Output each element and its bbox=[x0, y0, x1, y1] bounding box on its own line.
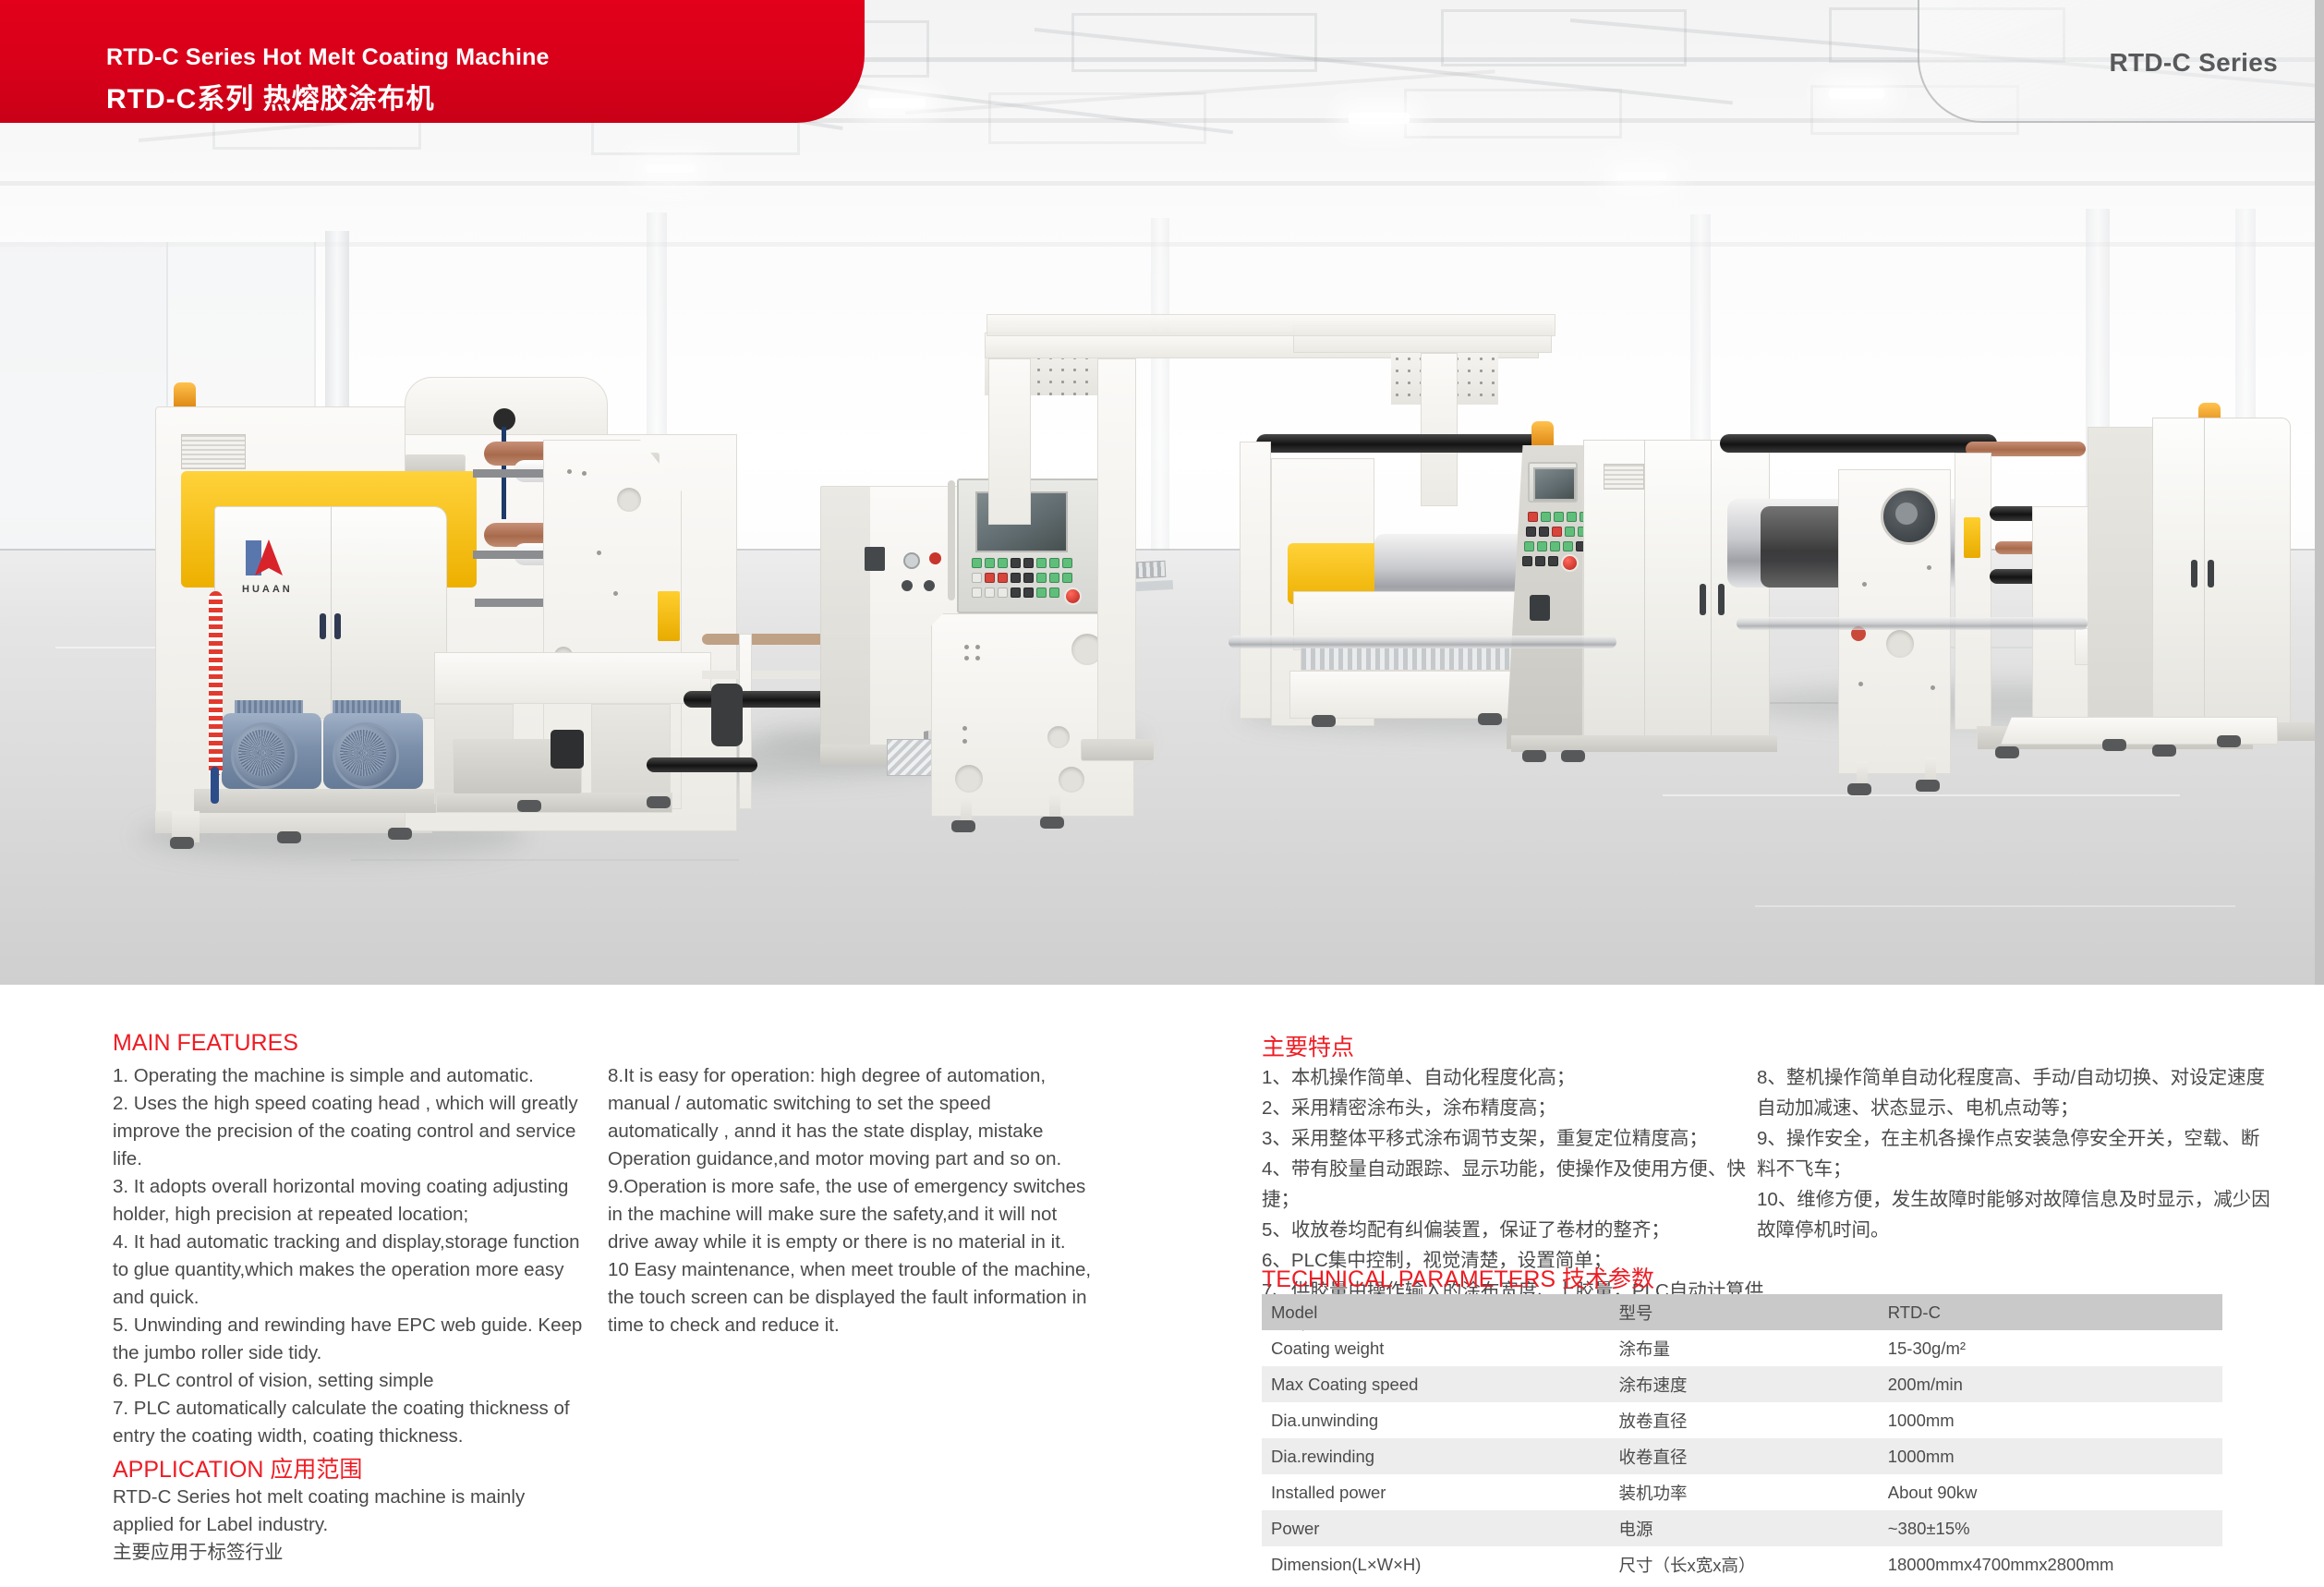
table-cell-label-cn: 涂布速度 bbox=[1610, 1366, 1879, 1402]
feature-item: 7. PLC automatically calculate the coati… bbox=[113, 1395, 593, 1450]
table-header-row: Model 型号 RTD-C bbox=[1262, 1294, 2222, 1330]
table-header-cell: Model bbox=[1262, 1294, 1610, 1330]
feature-item-cn: 5、收放卷均配有纠偏装置，保证了卷材的整齐； bbox=[1262, 1215, 1779, 1245]
table-header-cell: RTD-C bbox=[1879, 1294, 2222, 1330]
table-cell-value: ~380±15% bbox=[1879, 1510, 2222, 1546]
hmi-touch-screen-cabinet[interactable] bbox=[1533, 467, 1576, 501]
table-cell-value: 200m/min bbox=[1879, 1366, 2222, 1402]
product-photo: HUAAN bbox=[0, 0, 2315, 985]
feature-item-cn: 3、采用整体平移式涂布调节支架，重复定位精度高； bbox=[1262, 1123, 1779, 1154]
table-cell-label-en: Dia.unwinding bbox=[1262, 1402, 1610, 1438]
table-cell-value: 15-30g/m² bbox=[1879, 1330, 2222, 1366]
table-cell-label-cn: 装机功率 bbox=[1610, 1474, 1879, 1510]
table-cell-label-cn: 涂布量 bbox=[1610, 1330, 1879, 1366]
feature-item: 10 Easy maintenance, when meet trouble o… bbox=[608, 1256, 1097, 1339]
feature-item: 2. Uses the high speed coating head , wh… bbox=[113, 1090, 593, 1173]
coiled-air-hose bbox=[209, 591, 223, 776]
hmi-button-row-3[interactable] bbox=[972, 588, 1059, 598]
feature-item-cn: 2、采用精密涂布头，涂布精度高； bbox=[1262, 1093, 1779, 1123]
table-cell-label-cn: 收卷直径 bbox=[1610, 1438, 1879, 1474]
feature-item-cn: 10、维修方便，发生故障时能够对故障信息及时显示，减少因故障停机时间。 bbox=[1757, 1184, 2274, 1245]
technical-parameters-heading: TECHNICAL PARAMETERS 技术参数 bbox=[1262, 1261, 1654, 1294]
table-row: Coating weight 涂布量 15-30g/m² bbox=[1262, 1330, 2222, 1366]
table-cell-label-en: Coating weight bbox=[1262, 1330, 1610, 1366]
table-row: Max Coating speed 涂布速度 200m/min bbox=[1262, 1366, 2222, 1402]
cabinet-button-row-2[interactable] bbox=[1526, 527, 1588, 537]
table-row: Dia.unwinding 放卷直径 1000mm bbox=[1262, 1402, 2222, 1438]
table-cell-value: 1000mm bbox=[1879, 1402, 2222, 1438]
main-features-heading: MAIN FEATURES bbox=[113, 1030, 298, 1057]
main-features-cn-list-right: 8、整机操作简单自动化程度高、手动/自动切换、对设定速度自动加减速、状态显示、电… bbox=[1757, 1062, 2274, 1245]
feature-item: 3. It adopts overall horizontal moving c… bbox=[113, 1173, 593, 1229]
table-cell-label-en: Dimension(L×W×H) bbox=[1262, 1546, 1610, 1582]
banner-title-cn: RTD-C系列 热熔胶涂布机 bbox=[106, 76, 435, 116]
table-cell-label-cn: 放卷直径 bbox=[1610, 1402, 1879, 1438]
feature-item: 1. Operating the machine is simple and a… bbox=[113, 1062, 593, 1090]
cabinet-button-row-4[interactable] bbox=[1522, 556, 1558, 566]
control-box-yellow-small bbox=[658, 591, 680, 641]
table-cell-value: About 90kw bbox=[1879, 1474, 2222, 1510]
table-cell-label-en: Dia.rewinding bbox=[1262, 1438, 1610, 1474]
emergency-stop-button-center[interactable] bbox=[1064, 588, 1082, 605]
feature-item-cn: 9、操作安全，在主机各操作点安装急停安全开关，空载、断料不飞车； bbox=[1757, 1123, 2274, 1184]
feature-item: 6. PLC control of vision, setting simple bbox=[113, 1367, 593, 1395]
table-cell-label-cn: 电源 bbox=[1610, 1510, 1879, 1546]
feature-item: 5. Unwinding and rewinding have EPC web … bbox=[113, 1312, 593, 1367]
feature-item-cn: 8、整机操作简单自动化程度高、手动/自动切换、对设定速度自动加减速、状态显示、电… bbox=[1757, 1062, 2274, 1123]
hmi-button-row-2[interactable] bbox=[972, 573, 1072, 583]
feature-item: 4. It had automatic tracking and display… bbox=[113, 1229, 593, 1312]
hmi-button-row-1[interactable] bbox=[972, 558, 1072, 568]
main-features-cn-heading: 主要特点 bbox=[1262, 1029, 1354, 1062]
table-cell-value: 18000mmx4700mmx2800mm bbox=[1879, 1546, 2222, 1582]
application-text-cn: 主要应用于标签行业 bbox=[113, 1539, 575, 1567]
technical-parameters-table: Model 型号 RTD-C Coating weight 涂布量 15-30g… bbox=[1262, 1294, 2222, 1582]
page-right-gutter-lower bbox=[2315, 985, 2324, 1587]
cabinet-button-row-1[interactable] bbox=[1528, 512, 1590, 522]
page-sheet: HUAAN bbox=[0, 0, 2315, 1587]
electrical-cabinet-far-right bbox=[2152, 418, 2291, 735]
feature-item: 8.It is easy for operation: high degree … bbox=[608, 1062, 1097, 1173]
table-row: Installed power 装机功率 About 90kw bbox=[1262, 1474, 2222, 1510]
table-row: Power 电源 ~380±15% bbox=[1262, 1510, 2222, 1546]
table-cell-label-en: Installed power bbox=[1262, 1474, 1610, 1510]
series-tab-label: RTD-C Series bbox=[2109, 48, 2278, 78]
huaan-logo-text: HUAAN bbox=[242, 584, 293, 595]
huaan-logo bbox=[244, 539, 292, 580]
application-text-en: RTD-C Series hot melt coating machine is… bbox=[113, 1484, 575, 1539]
table-row: Dia.rewinding 收卷直径 1000mm bbox=[1262, 1438, 2222, 1474]
application-heading: APPLICATION 应用范围 bbox=[113, 1451, 362, 1484]
banner-title-en: RTD-C Series Hot Melt Coating Machine bbox=[106, 44, 550, 71]
feature-item-cn: 1、本机操作简单、自动化程度化高； bbox=[1262, 1062, 1779, 1093]
brochure-page: HUAAN bbox=[0, 0, 2324, 1587]
table-cell-label-cn: 尺寸（长x宽x高） bbox=[1610, 1546, 1879, 1582]
series-tab: RTD-C Series bbox=[1918, 0, 2315, 123]
feature-item-cn: 4、带有胶量自动跟踪、显示功能，使操作及使用方便、快捷； bbox=[1262, 1154, 1779, 1215]
emergency-stop-button-cabinet[interactable] bbox=[1561, 554, 1579, 572]
title-banner: RTD-C Series Hot Melt Coating Machine RT… bbox=[0, 0, 865, 123]
table-header-cell: 型号 bbox=[1610, 1294, 1879, 1330]
table-cell-label-en: Max Coating speed bbox=[1262, 1366, 1610, 1402]
main-features-list-right: 8.It is easy for operation: high degree … bbox=[608, 1062, 1097, 1339]
table-cell-value: 1000mm bbox=[1879, 1438, 2222, 1474]
main-features-list-left: 1. Operating the machine is simple and a… bbox=[113, 1062, 593, 1450]
table-cell-label-en: Power bbox=[1262, 1510, 1610, 1546]
feature-item: 9.Operation is more safe, the use of eme… bbox=[608, 1173, 1097, 1256]
table-row: Dimension(L×W×H) 尺寸（长x宽x高） 18000mmx4700m… bbox=[1262, 1546, 2222, 1582]
cabinet-button-row-3[interactable] bbox=[1524, 541, 1586, 551]
